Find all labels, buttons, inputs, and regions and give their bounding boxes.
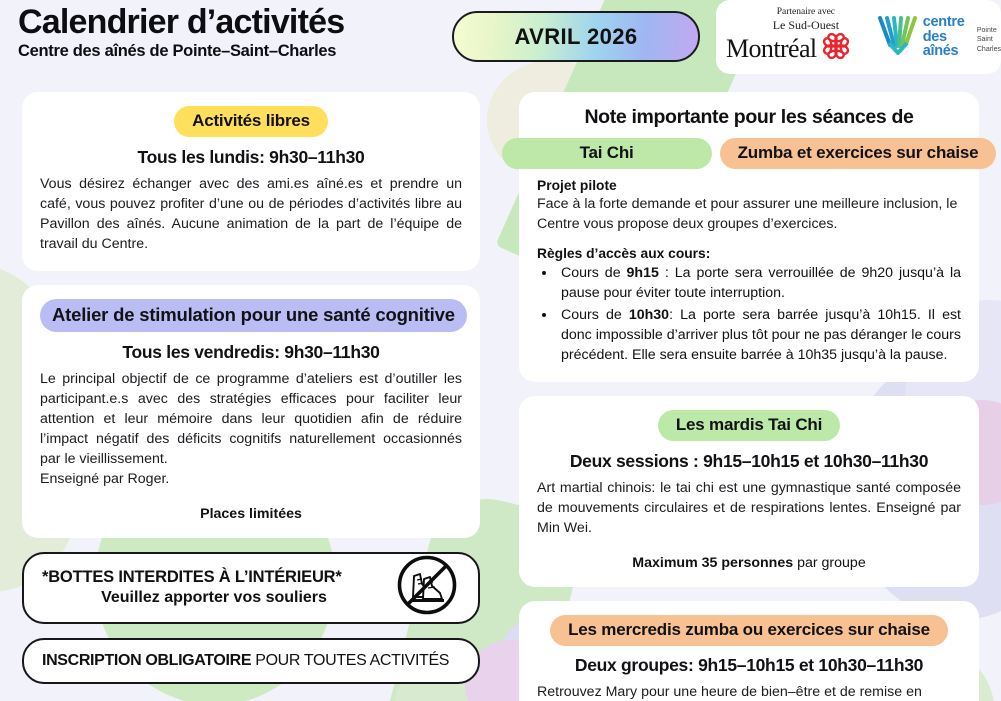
activites-libres-pill: Activités libres [174,106,328,137]
taichi-body: Art martial chinois: le tai chi est une … [537,478,961,538]
centre-location-1: Pointe [977,26,1001,35]
activites-libres-body: Vous désirez échanger avec des ami.es aî… [40,174,462,255]
regle-1-bold: 9h15 [627,265,659,281]
montreal-wordmark-row: Montréal [726,30,872,67]
logo-panel: Partenaire avec Le Sud-Ouest Montréal [716,0,1001,74]
regle-1-pre: Cours de [561,265,627,281]
poster-page: Calendrier d’activités Centre des aînés … [0,0,1001,701]
partner-lines: Partenaire avec Le Sud-Ouest [726,7,872,32]
atelier-schedule: Tous les vendredis: 9h30–11h30 [40,342,462,363]
card-tai-chi: Les mardis Tai Chi Deux sessions : 9h15–… [519,396,979,586]
centre-fan-icon [876,15,920,60]
montreal-logo: Partenaire avec Le Sud-Ouest Montréal [716,7,872,67]
page-title: Calendrier d’activités [18,4,344,41]
month-badge: AVRIL 2026 [452,11,700,62]
centre-des-aines-logo: centre des aînés Pointe Saint Charles [872,15,1001,60]
projet-pilote-head: Projet pilote [537,178,961,193]
boots-line-1: *BOTTES INTERDITES À L’INTÉRIEUR* [42,568,386,587]
note-title: Note importante pour les séances de [537,106,961,129]
taichi-pill: Les mardis Tai Chi [658,410,840,441]
regles-acces-list: Cours de 9h15 : La porte sera verrouillé… [557,263,961,365]
inscription-text: INSCRIPTION OBLIGATOIRE POUR TOUTES ACTI… [42,652,460,670]
taichi-schedule: Deux sessions : 9h15–10h15 et 10h30–11h3… [537,451,961,472]
poster-header: Calendrier d’activités Centre des aînés … [0,0,1001,80]
month-badge-label: AVRIL 2026 [514,24,637,50]
regle-item-2: Cours de 10h30: La porte sera barrée jus… [557,305,961,365]
boots-line-2: Veuillez apporter vos souliers [42,589,386,607]
centre-location-3: Charles [977,45,1001,54]
taichi-pill-row: Les mardis Tai Chi [537,410,961,441]
centre-line-2: des aînés [923,30,974,59]
centre-line-1: centre [923,15,974,30]
activites-libres-pill-row: Activités libres [40,106,462,137]
inscription-rest: POUR TOUTES ACTIVITÉS [251,652,449,669]
page-subtitle: Centre des aînés de Pointe–Saint–Charles [18,42,344,61]
note-pill-taichi: Tai Chi [502,138,712,169]
montreal-flower-icon [820,30,852,67]
activites-libres-schedule: Tous les lundis: 9h30–11h30 [40,147,462,168]
atelier-footnote: Places limitées [40,506,462,522]
centre-location: Pointe Saint Charles [977,20,1001,54]
taichi-footnote-rest: par groupe [793,555,866,571]
right-column: Note importante pour les séances de Tai … [519,92,979,701]
projet-pilote-body: Face à la forte demande et pour assurer … [537,194,961,234]
zumba-pill: Les mercredis zumba ou exercices sur cha… [550,615,948,646]
atelier-pill-row: Atelier de stimulation pour une santé co… [40,299,462,332]
card-activites-libres: Activités libres Tous les lundis: 9h30–1… [22,92,480,271]
card-note-importante: Note importante pour les séances de Tai … [519,92,979,382]
inscription-bold: INSCRIPTION OBLIGATOIRE [42,652,251,669]
regle-2-pre: Cours de [561,307,629,323]
card-atelier-cognitif: Atelier de stimulation pour une santé co… [22,285,480,538]
regle-item-1: Cours de 9h15 : La porte sera verrouillé… [557,263,961,303]
centre-wordmark: centre des aînés [923,15,974,59]
zumba-body: Retrouvez Mary pour une heure de bien–êt… [537,682,961,701]
centre-location-2: Saint [977,35,1001,44]
montreal-wordmark: Montréal [726,34,817,64]
note-pill-zumba: Zumba et exercices sur chaise [720,138,997,169]
regle-2-bold: 10h30 [629,307,669,323]
partner-line-1: Partenaire avec [740,7,872,18]
no-boots-icon [396,554,460,621]
regles-acces-head: Règles d’accès aux cours: [537,246,961,261]
atelier-body-2: Enseigné par Roger. [40,469,462,489]
title-block: Calendrier d’activités Centre des aînés … [18,4,344,61]
card-zumba: Les mercredis zumba ou exercices sur cha… [519,601,979,701]
left-column: Activités libres Tous les lundis: 9h30–1… [22,92,480,698]
note-pill-row: Tai Chi Zumba et exercices sur chaise [537,138,961,169]
zumba-schedule: Deux groupes: 9h15–10h15 et 10h30–11h30 [537,655,961,676]
atelier-pill: Atelier de stimulation pour une santé co… [40,299,467,332]
zumba-pill-row: Les mercredis zumba ou exercices sur cha… [537,615,961,646]
card-no-boots: *BOTTES INTERDITES À L’INTÉRIEUR* Veuill… [22,552,480,624]
boots-text: *BOTTES INTERDITES À L’INTÉRIEUR* Veuill… [42,568,386,607]
atelier-body: Le principal objectif de ce programme d’… [40,369,462,470]
card-inscription: INSCRIPTION OBLIGATOIRE POUR TOUTES ACTI… [22,638,480,684]
taichi-footnote: Maximum 35 personnes par groupe [537,555,961,571]
taichi-footnote-bold: Maximum 35 personnes [632,555,793,571]
